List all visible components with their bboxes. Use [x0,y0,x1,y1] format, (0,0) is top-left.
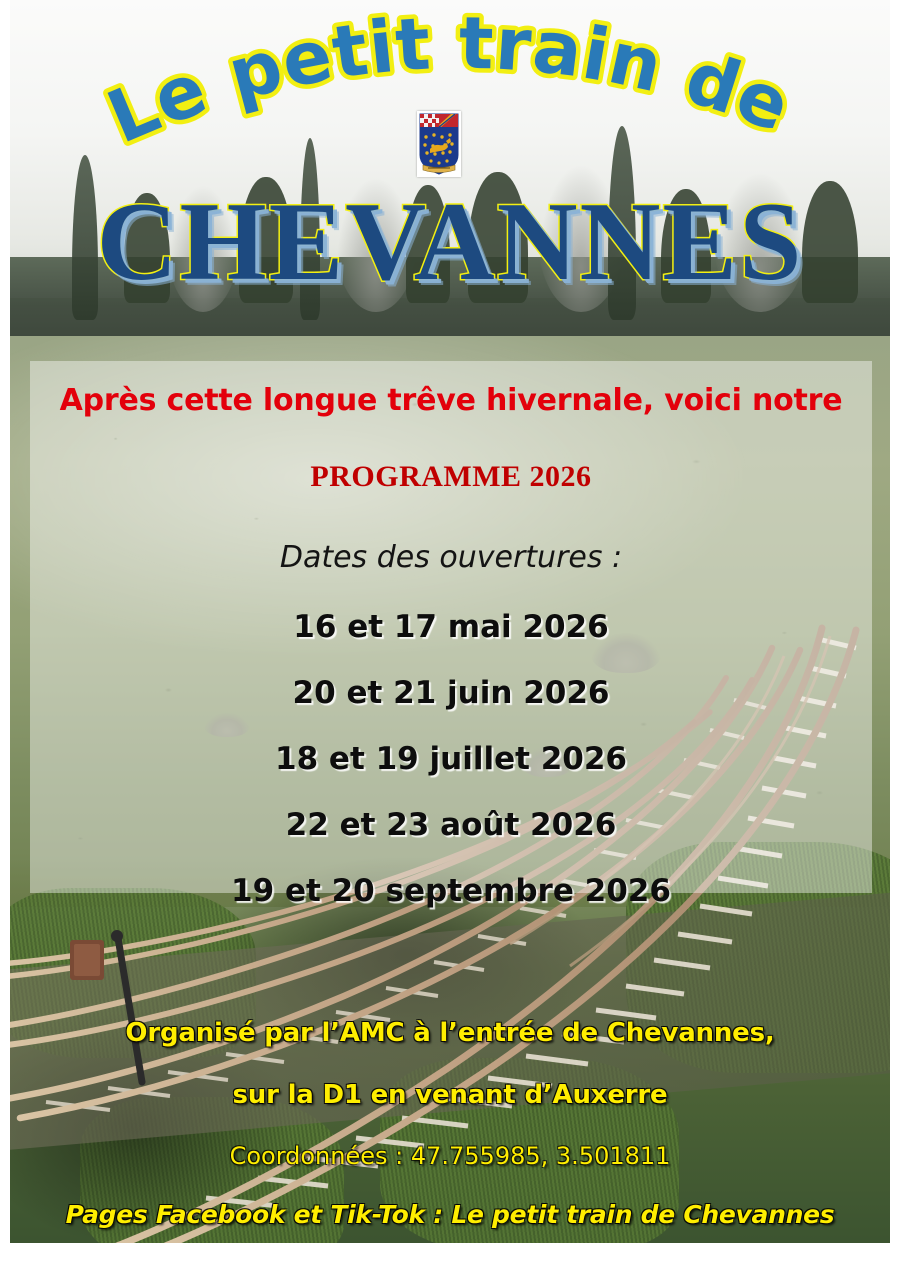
organiser-line: Organisé par l’AMC à l’entrée de Chevann… [0,1018,900,1048]
page-title: CHEVANNES [0,186,900,298]
opening-dates-list: 16 et 17 mai 2026 20 et 21 juin 2026 18 … [52,609,850,909]
programme-panel: Après cette longue trêve hivernale, voic… [30,361,872,893]
list-item: 20 et 21 juin 2026 [52,675,850,711]
coat-of-arms-icon [417,111,461,177]
list-item: 16 et 17 mai 2026 [52,609,850,645]
footer-info: Organisé par l’AMC à l’entrée de Chevann… [0,1018,900,1229]
social-media-line: Pages Facebook et Tik-Tok : Le petit tra… [0,1200,900,1229]
dates-label: Dates des ouvertures : [52,540,850,575]
poster-root: Le petit train de [0,0,900,1273]
list-item: 18 et 19 juillet 2026 [52,741,850,777]
crest-shield-icon [419,113,459,175]
programme-heading: PROGRAMME 2026 [52,460,850,494]
intro-text: Après cette longue trêve hivernale, voic… [52,383,850,418]
list-item: 19 et 20 septembre 2026 [52,873,850,909]
coordinates-line: Coordonnées : 47.755985, 3.501811 [0,1142,900,1170]
list-item: 22 et 23 août 2026 [52,807,850,843]
access-line: sur la D1 en venant d’Auxerre [0,1080,900,1110]
